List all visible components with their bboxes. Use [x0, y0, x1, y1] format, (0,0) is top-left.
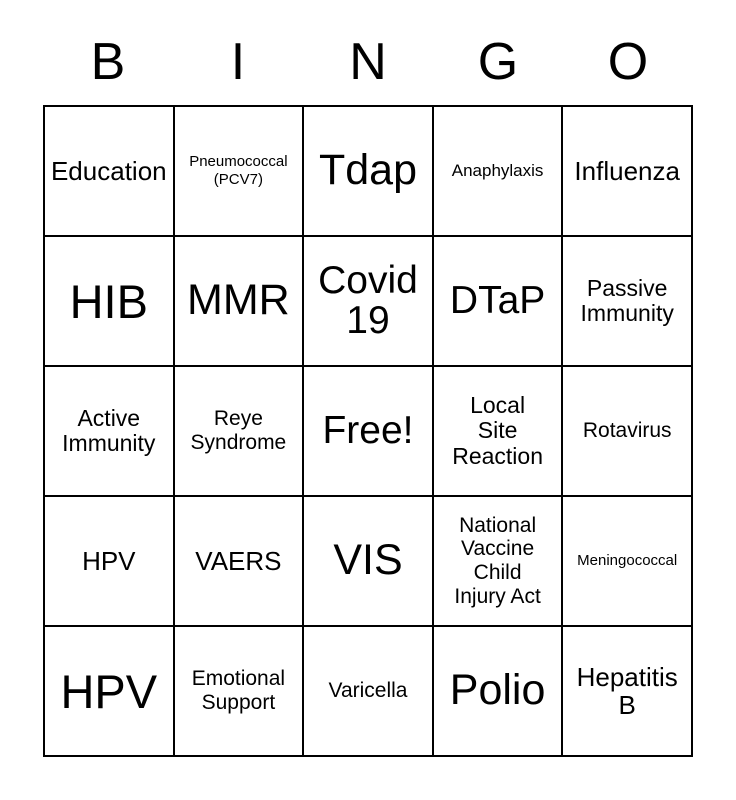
bingo-cell-label: Polio — [437, 669, 559, 713]
bingo-cell[interactable]: Varicella — [304, 627, 434, 757]
bingo-cell-label: Reye Syndrome — [178, 407, 300, 454]
bingo-cell[interactable]: Polio — [434, 627, 564, 757]
bingo-cell[interactable]: VAERS — [175, 497, 305, 627]
bingo-cell-label: Anaphylaxis — [437, 161, 559, 181]
bingo-cell-label: Hepatitis B — [566, 663, 688, 719]
bingo-cell[interactable]: HIB — [45, 237, 175, 367]
bingo-cell-label: Free! — [307, 411, 429, 451]
bingo-cell-label: HPV — [48, 547, 170, 575]
bingo-cell[interactable]: Reye Syndrome — [175, 367, 305, 497]
bingo-cell[interactable]: Emotional Support — [175, 627, 305, 757]
bingo-cell[interactable]: Education — [45, 107, 175, 237]
bingo-cell-label: National Vaccine Child Injury Act — [437, 514, 559, 608]
bingo-cell[interactable]: Pneumococcal (PCV7) — [175, 107, 305, 237]
bingo-cell-label: Varicella — [307, 679, 429, 703]
header-letter-i: I — [173, 26, 303, 98]
bingo-cell-label: Covid 19 — [307, 261, 429, 341]
bingo-cell-label: Rotavirus — [566, 419, 688, 443]
bingo-cell-label: Influenza — [566, 157, 688, 185]
header-letter-o: O — [563, 26, 693, 98]
bingo-cell-free[interactable]: Free! — [304, 367, 434, 497]
bingo-cell[interactable]: VIS — [304, 497, 434, 627]
bingo-cell[interactable]: Anaphylaxis — [434, 107, 564, 237]
bingo-cell[interactable]: Meningococcal — [563, 497, 693, 627]
bingo-cell[interactable]: Local Site Reaction — [434, 367, 564, 497]
bingo-cell-label: VAERS — [178, 547, 300, 575]
bingo-cell[interactable]: DTaP — [434, 237, 564, 367]
bingo-cell[interactable]: Tdap — [304, 107, 434, 237]
bingo-cell-label: Passive Immunity — [566, 276, 688, 327]
bingo-cell[interactable]: Passive Immunity — [563, 237, 693, 367]
bingo-cell-label: Meningococcal — [566, 552, 688, 570]
bingo-cell-label: Education — [48, 157, 170, 185]
bingo-cell[interactable]: MMR — [175, 237, 305, 367]
header-letter-g: G — [433, 26, 563, 98]
bingo-cell[interactable]: Rotavirus — [563, 367, 693, 497]
bingo-cell[interactable]: Hepatitis B — [563, 627, 693, 757]
bingo-cell-label: HPV — [48, 668, 170, 715]
bingo-cell-label: VIS — [307, 539, 429, 583]
header-letter-n: N — [303, 26, 433, 98]
bingo-cell-label: MMR — [178, 279, 300, 323]
bingo-cell[interactable]: Influenza — [563, 107, 693, 237]
bingo-cell[interactable]: Active Immunity — [45, 367, 175, 497]
bingo-cell-label: Pneumococcal (PCV7) — [178, 153, 300, 189]
header-letter-b: B — [43, 26, 173, 98]
bingo-header-row: B I N G O — [43, 26, 693, 98]
bingo-grid: EducationPneumococcal (PCV7)TdapAnaphyla… — [43, 105, 693, 757]
bingo-cell[interactable]: National Vaccine Child Injury Act — [434, 497, 564, 627]
bingo-cell[interactable]: Covid 19 — [304, 237, 434, 367]
bingo-cell[interactable]: HPV — [45, 497, 175, 627]
bingo-card: B I N G O EducationPneumococcal (PCV7)Td… — [0, 0, 736, 800]
bingo-cell-label: Local Site Reaction — [437, 393, 559, 469]
bingo-cell-label: Tdap — [307, 149, 429, 193]
bingo-cell-label: Active Immunity — [48, 406, 170, 457]
bingo-cell-label: Emotional Support — [178, 667, 300, 714]
bingo-cell[interactable]: HPV — [45, 627, 175, 757]
bingo-cell-label: DTaP — [437, 281, 559, 321]
bingo-cell-label: HIB — [48, 278, 170, 325]
